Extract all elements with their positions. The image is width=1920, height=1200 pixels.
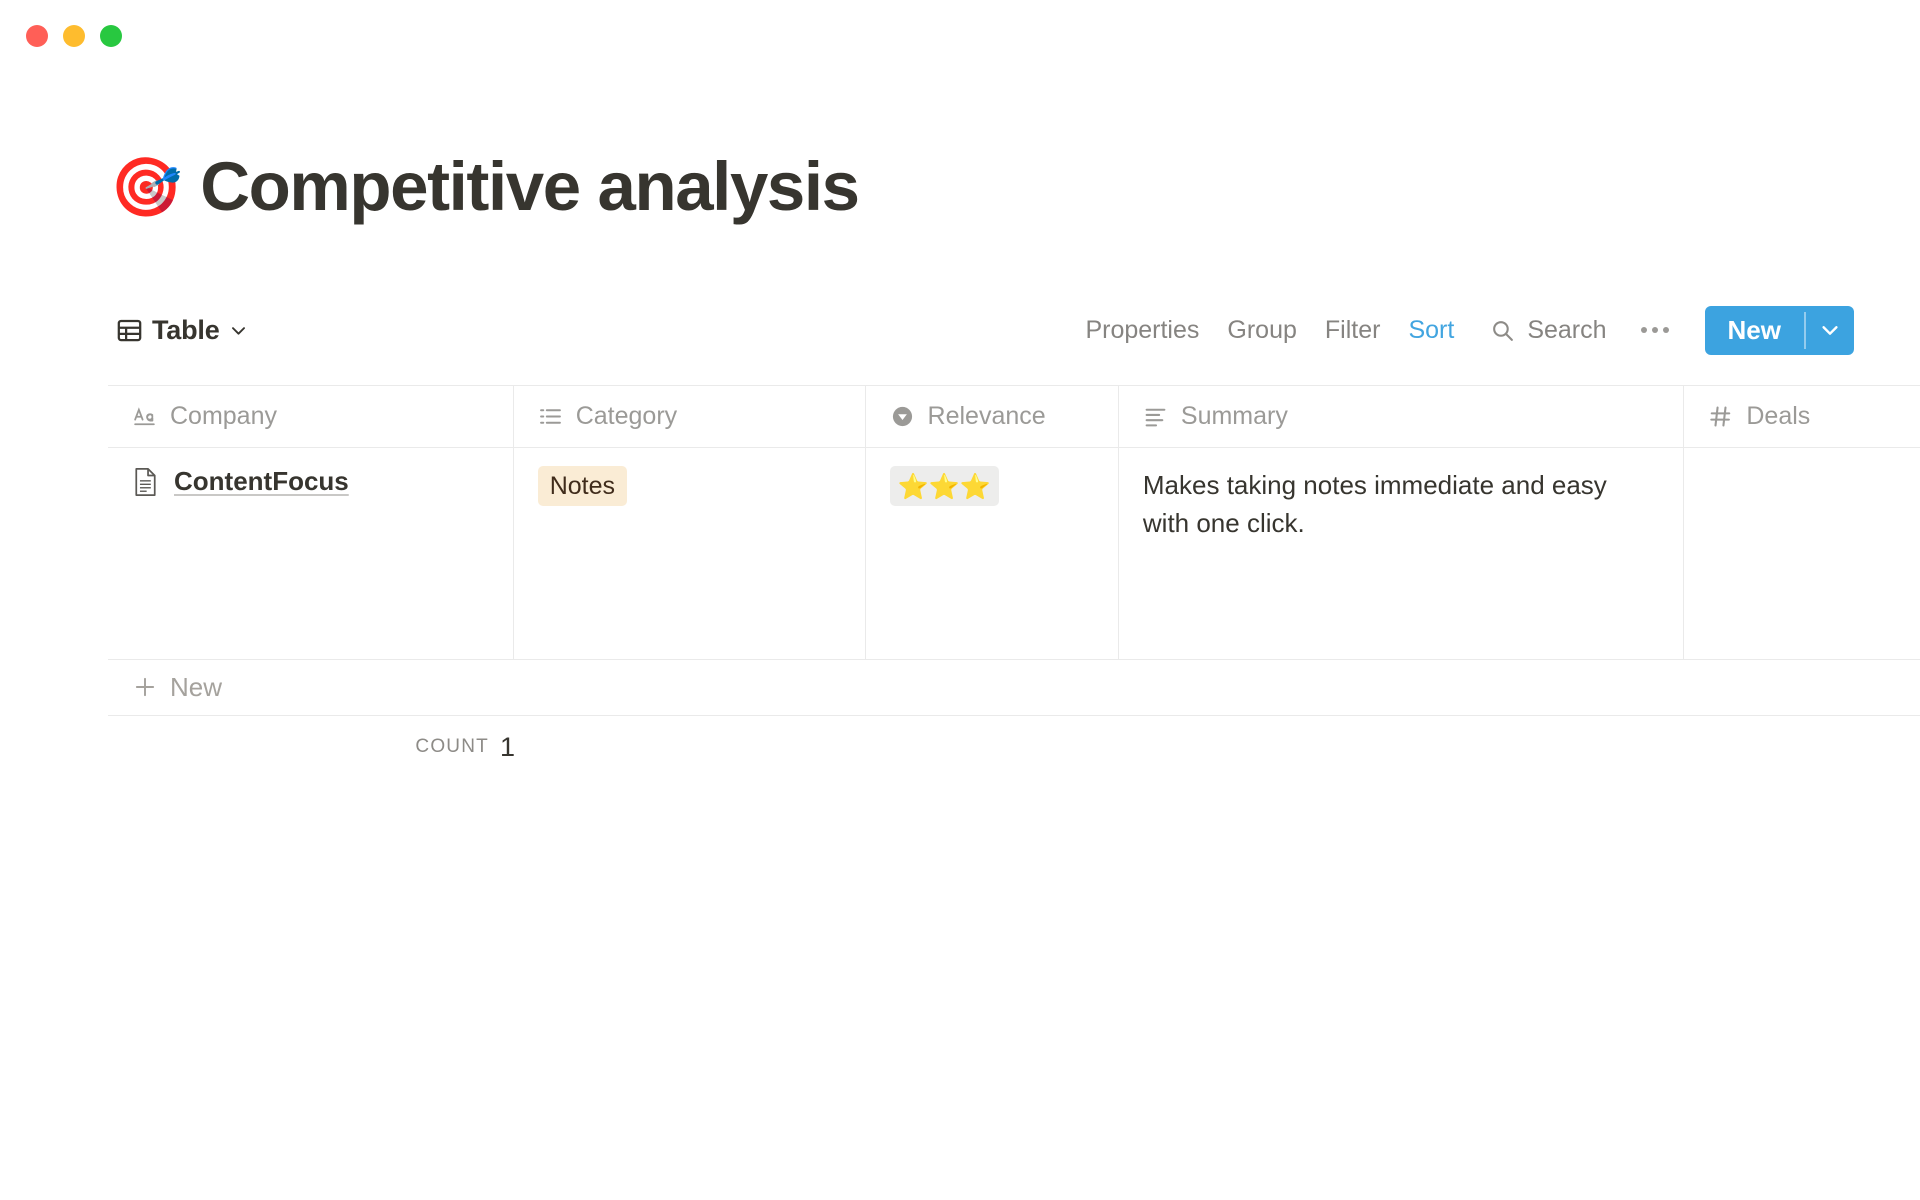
number-hash-icon [1708, 404, 1733, 429]
new-button[interactable]: New [1705, 306, 1804, 355]
new-button-group: New [1705, 306, 1854, 355]
ellipsis-icon [1641, 327, 1669, 333]
column-header-company[interactable]: Company [108, 386, 514, 447]
toolbar-search-label: Search [1527, 316, 1606, 345]
chevron-down-icon [1819, 319, 1841, 341]
add-new-row-button[interactable]: New [108, 659, 1920, 716]
table-grid-icon [116, 317, 143, 344]
view-switcher-label: Table [152, 315, 220, 346]
column-header-relevance[interactable]: Relevance [866, 386, 1119, 447]
chevron-down-icon [229, 321, 248, 340]
company-name-link[interactable]: ContentFocus [174, 466, 349, 497]
multi-select-icon [538, 404, 563, 429]
new-button-dropdown[interactable] [1806, 306, 1854, 355]
summary-text: Makes taking notes immediate and easy wi… [1143, 466, 1659, 543]
toolbar-sort-button[interactable]: Sort [1394, 311, 1468, 350]
toolbar-group-button[interactable]: Group [1213, 311, 1310, 350]
select-icon [890, 404, 915, 429]
zoom-window-button[interactable] [100, 25, 122, 47]
cell-deals[interactable] [1684, 448, 1920, 659]
view-toolbar: Table Properties Group Filter Sort Searc [110, 300, 1920, 360]
traffic-lights [26, 25, 122, 47]
category-tag[interactable]: Notes [538, 466, 627, 506]
page-title[interactable]: Competitive analysis [200, 152, 858, 221]
toolbar-more-options-button[interactable] [1627, 322, 1683, 338]
count-label: Count [415, 736, 489, 758]
toolbar-actions: Properties Group Filter Sort Search [1071, 300, 1854, 360]
text-lines-icon [1143, 404, 1168, 429]
column-header-deals[interactable]: Deals [1684, 386, 1920, 447]
page-title-row: 🎯 Competitive analysis [110, 152, 859, 221]
column-header-label: Summary [1181, 402, 1288, 431]
view-switcher-table[interactable]: Table [110, 311, 254, 350]
add-new-row-label: New [170, 672, 222, 703]
target-emoji-icon[interactable]: 🎯 [110, 158, 182, 216]
column-header-summary[interactable]: Summary [1119, 386, 1684, 447]
minimize-window-button[interactable] [63, 25, 85, 47]
cell-company[interactable]: ContentFocus [108, 448, 514, 659]
toolbar-search-button[interactable]: Search [1478, 311, 1618, 350]
column-header-label: Deals [1746, 402, 1810, 431]
count-value: 1 [500, 732, 515, 763]
relevance-stars-tag[interactable]: ⭐⭐⭐ [890, 466, 999, 506]
text-type-icon [132, 404, 157, 429]
cell-summary[interactable]: Makes taking notes immediate and easy wi… [1119, 448, 1684, 659]
toolbar-properties-button[interactable]: Properties [1071, 311, 1213, 350]
table-footer-count[interactable]: Count 1 [108, 716, 541, 778]
column-header-label: Category [576, 402, 677, 431]
table-row: ContentFocus Notes ⭐⭐⭐ Makes taking note… [108, 448, 1920, 660]
column-header-category[interactable]: Category [514, 386, 866, 447]
page-document-icon [132, 467, 159, 497]
close-window-button[interactable] [26, 25, 48, 47]
column-header-label: Relevance [928, 402, 1046, 431]
search-icon [1490, 318, 1515, 343]
toolbar-filter-button[interactable]: Filter [1311, 311, 1395, 350]
app-window: 🎯 Competitive analysis Table Properti [0, 0, 1920, 1200]
column-header-label: Company [170, 402, 277, 431]
cell-category[interactable]: Notes [514, 448, 866, 659]
cell-relevance[interactable]: ⭐⭐⭐ [866, 448, 1119, 659]
table-header-row: Company Category [108, 386, 1920, 448]
plus-icon [132, 674, 158, 700]
database-table: Company Category [108, 385, 1920, 660]
